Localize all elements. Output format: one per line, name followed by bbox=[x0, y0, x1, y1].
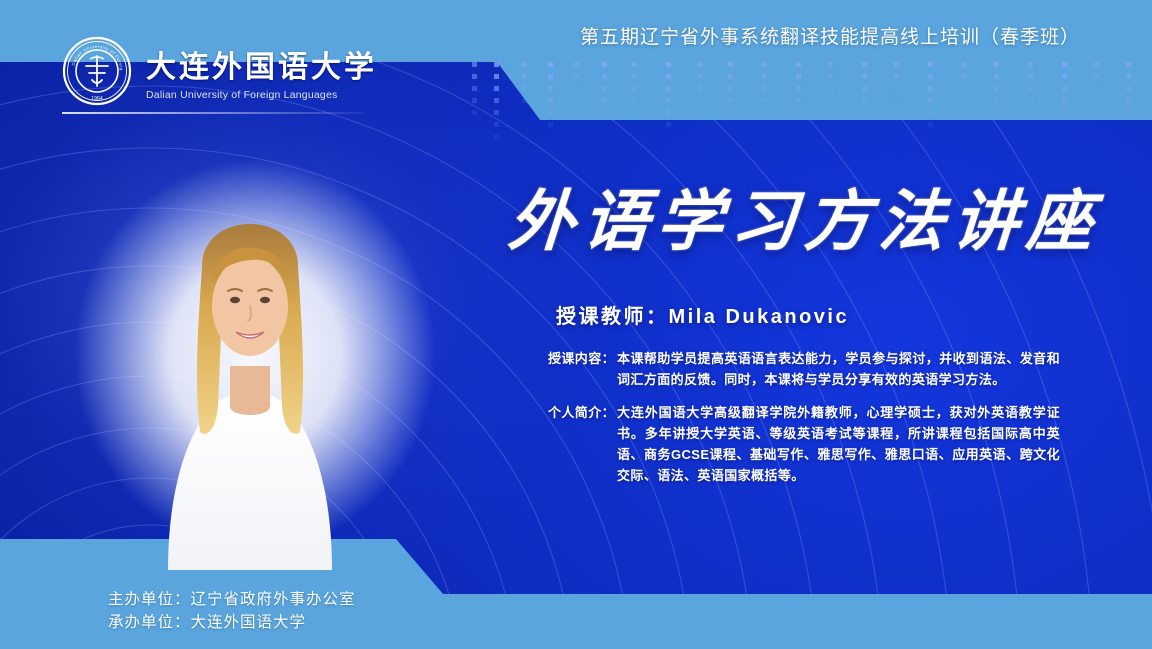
seal-year-text: 1964 bbox=[91, 96, 103, 102]
university-logo: 1964 Dalian University of Foreign 大连外国语大… bbox=[62, 36, 377, 106]
lecture-title: 外语学习方法讲座 bbox=[492, 168, 1119, 264]
course-content-text: 本课帮助学员提高英语语言表达能力，学员参与探讨，并收到语法、发音和词汇方面的反馈… bbox=[617, 348, 1060, 390]
organizers-block: 主办单位：辽宁省政府外事办公室 承办单位：大连外国语大学 bbox=[108, 588, 356, 634]
organizer-line: 承办单位：大连外国语大学 bbox=[108, 611, 356, 634]
university-name-cn: 大连外国语大学 bbox=[146, 42, 377, 86]
speaker-line: 授课教师：Mila Dukanovic bbox=[556, 300, 849, 329]
course-content-label: 授课内容： bbox=[548, 348, 617, 369]
university-name-en: Dalian University of Foreign Languages bbox=[146, 89, 377, 101]
biography-text: 大连外国语大学高级翻译学院外籍教师，心理学硕士，获对外英语教学证书。多年讲授大学… bbox=[617, 402, 1060, 486]
host-line: 主办单位：辽宁省政府外事办公室 bbox=[108, 588, 356, 611]
course-content-block: 授课内容： 本课帮助学员提高英语语言表达能力，学员参与探讨，并收到语法、发音和词… bbox=[548, 348, 1060, 390]
biography-block: 个人简介： 大连外国语大学高级翻译学院外籍教师，心理学硕士，获对外英语教学证书。… bbox=[548, 402, 1060, 486]
biography-label: 个人简介： bbox=[548, 402, 617, 423]
logo-divider bbox=[62, 112, 364, 114]
page-title: 第五期辽宁省外事系统翻译技能提高线上培训（春季班） bbox=[540, 22, 1120, 49]
poster-slide: 第五期辽宁省外事系统翻译技能提高线上培训（春季班） 1964 Dalian Un… bbox=[0, 0, 1152, 649]
university-seal-icon: 1964 Dalian University of Foreign bbox=[62, 36, 132, 106]
